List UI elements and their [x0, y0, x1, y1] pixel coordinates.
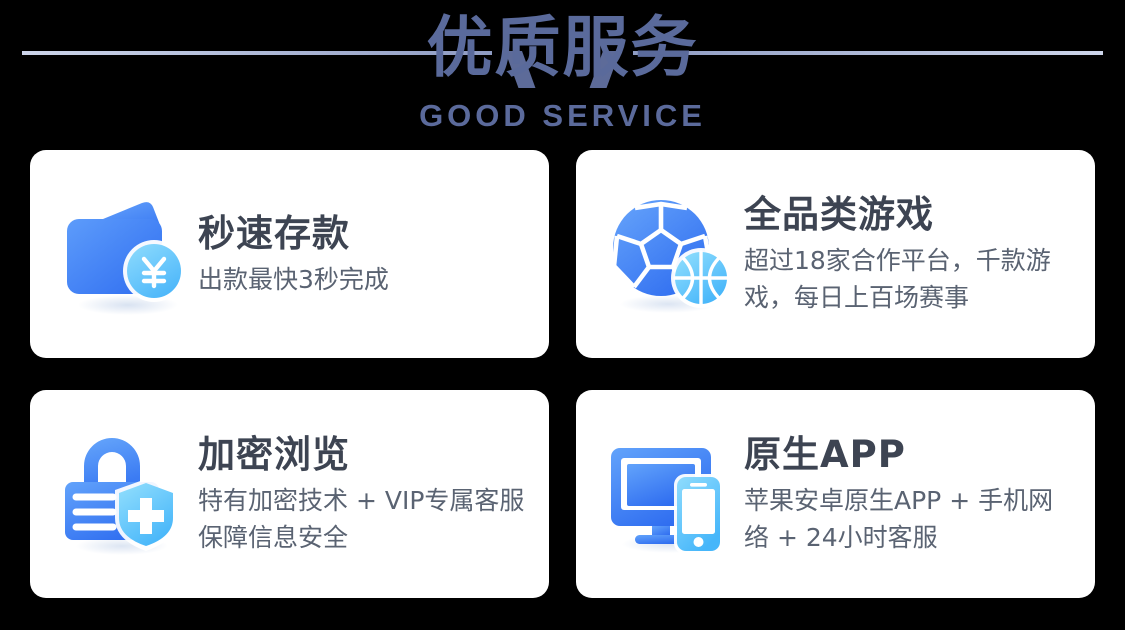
feature-card-text: 全品类游戏 超过18家合作平台，千款游戏，每日上百场赛事	[744, 192, 1077, 316]
feature-card-text: 秒速存款 出款最快3秒完成	[198, 211, 531, 298]
card-title: 原生APP	[744, 432, 1077, 478]
lock-shield-icon	[56, 426, 192, 562]
card-title: 秒速存款	[198, 211, 531, 257]
wallet-icon	[56, 186, 192, 322]
feature-card-games[interactable]: 全品类游戏 超过18家合作平台，千款游戏，每日上百场赛事	[576, 150, 1095, 358]
card-description: 出款最快3秒完成	[198, 261, 531, 298]
feature-card-text: 原生APP 苹果安卓原生APP + 手机网络 + 24小时客服	[744, 432, 1077, 556]
feature-card-native-app[interactable]: 原生APP 苹果安卓原生APP + 手机网络 + 24小时客服	[576, 390, 1095, 598]
page-subtitle: GOOD SERVICE	[0, 98, 1125, 134]
banner-header: 优质服务 GOOD SERVICE	[0, 0, 1125, 142]
feature-card-deposit[interactable]: 秒速存款 出款最快3秒完成	[30, 150, 549, 358]
page-title: 优质服务	[0, 8, 1125, 88]
card-description: 超过18家合作平台，千款游戏，每日上百场赛事	[744, 242, 1077, 316]
feature-card-encryption[interactable]: 加密浏览 特有加密技术 + VIP专属客服保障信息安全	[30, 390, 549, 598]
monitor-phone-icon	[602, 426, 738, 562]
good-service-banner: 优质服务 GOOD SERVICE	[0, 0, 1125, 630]
feature-card-text: 加密浏览 特有加密技术 + VIP专属客服保障信息安全	[198, 432, 531, 556]
card-title: 加密浏览	[198, 432, 531, 478]
card-description: 特有加密技术 + VIP专属客服保障信息安全	[198, 482, 531, 556]
card-description: 苹果安卓原生APP + 手机网络 + 24小时客服	[744, 482, 1077, 556]
feature-card-grid: 秒速存款 出款最快3秒完成	[30, 150, 1095, 598]
soccer-basketball-icon	[602, 186, 738, 322]
card-title: 全品类游戏	[744, 192, 1077, 238]
